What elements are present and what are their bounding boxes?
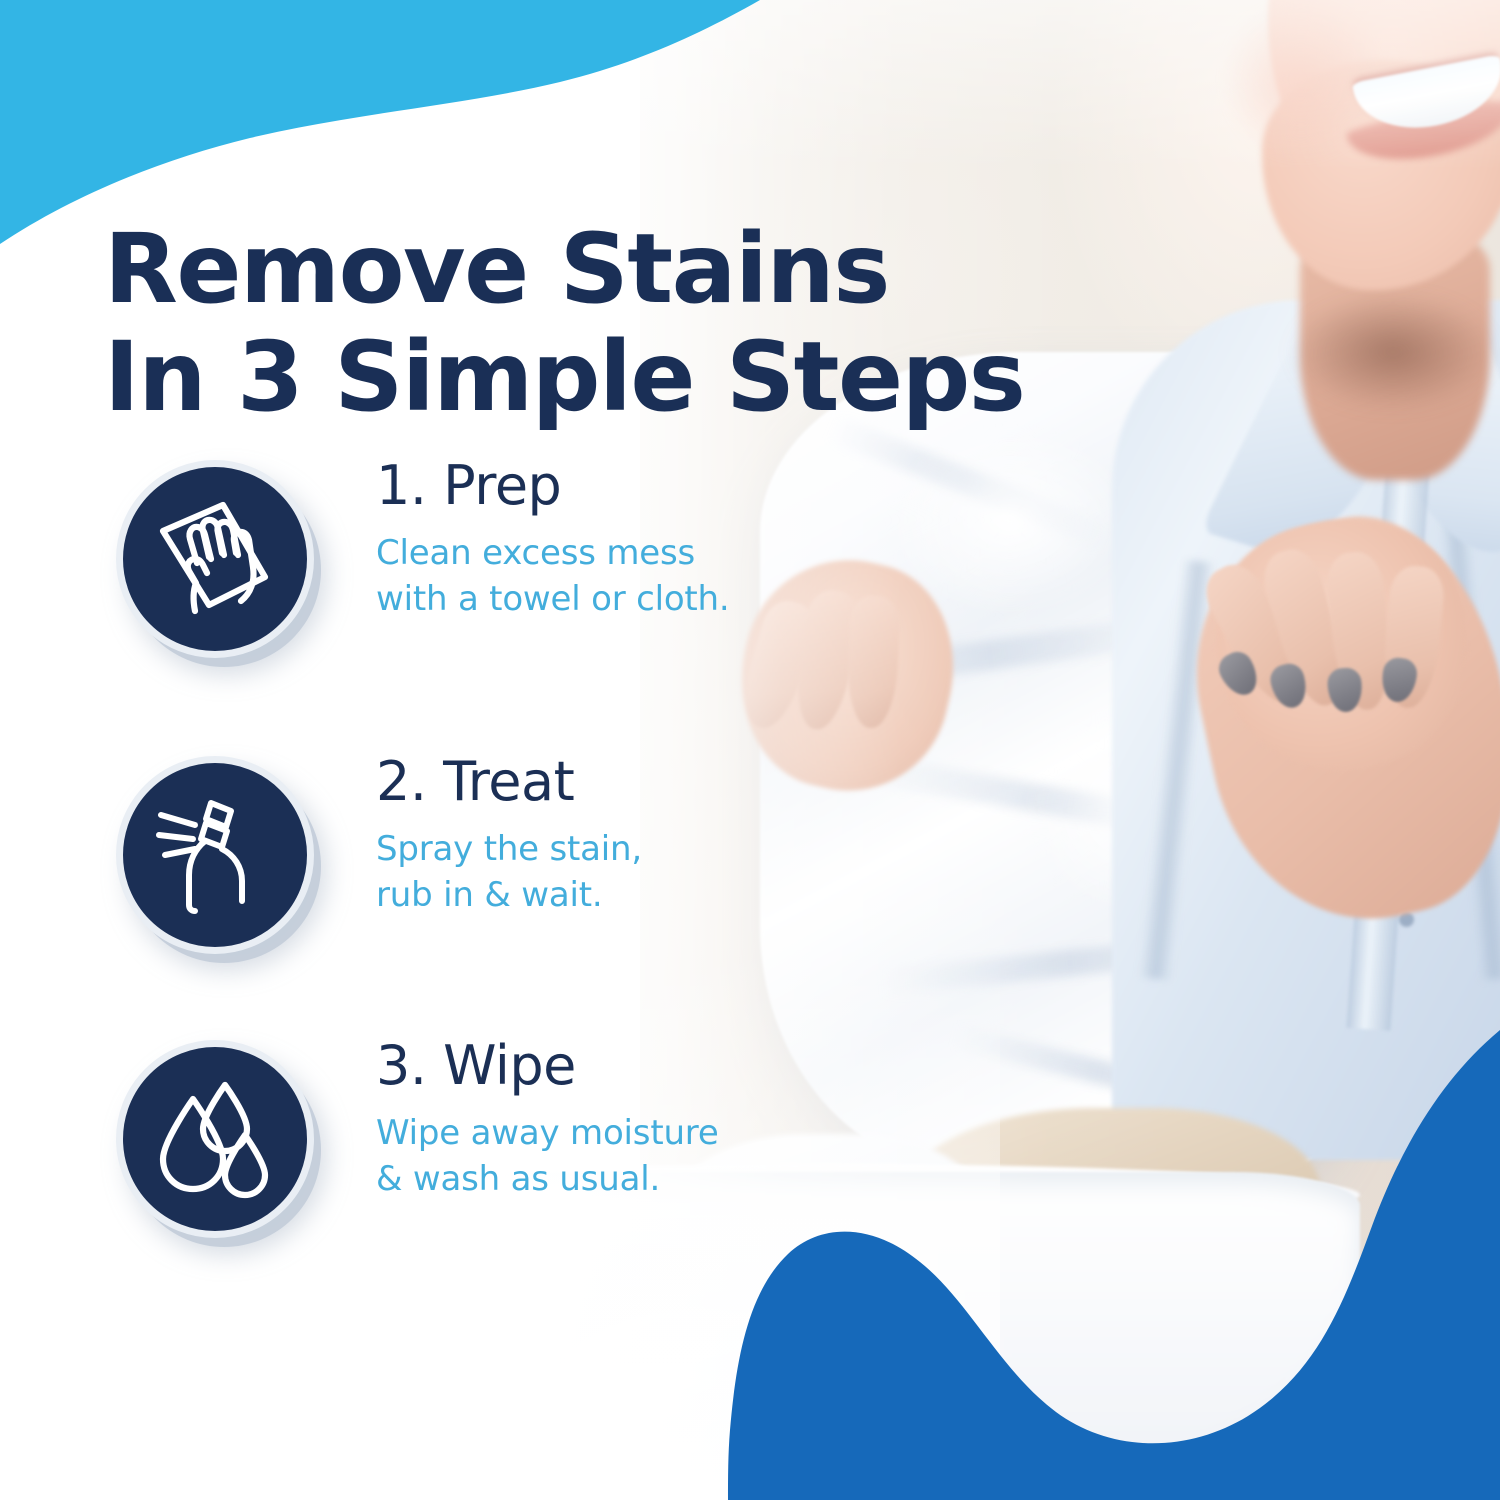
- step-description: Spray the stain, rub in & wait.: [376, 827, 816, 918]
- step-text-treat: 2. Treat Spray the stain, rub in & wait.: [376, 752, 816, 918]
- step-title: 2. Treat: [376, 752, 816, 811]
- step-desc-line-1: Wipe away moisture: [376, 1111, 816, 1157]
- step-item-treat: 2. Treat Spray the stain, rub in & wait.: [108, 748, 828, 978]
- steps-list: 1. Prep Clean excess mess with a towel o…: [0, 0, 1500, 1500]
- step-desc-line-2: rub in & wait.: [376, 873, 816, 919]
- infographic-canvas: Remove Stains In 3 Simple Steps 1. Prep …: [0, 0, 1500, 1500]
- water-droplets-icon: [116, 1040, 314, 1238]
- step-description: Clean excess mess with a towel or cloth.: [376, 531, 816, 622]
- step-item-wipe: 3. Wipe Wipe away moisture & wash as usu…: [108, 1032, 828, 1262]
- step-desc-line-2: & wash as usual.: [376, 1157, 816, 1203]
- step-text-wipe: 3. Wipe Wipe away moisture & wash as usu…: [376, 1036, 816, 1202]
- hand-wiping-cloth-icon: [116, 460, 314, 658]
- step-item-prep: 1. Prep Clean excess mess with a towel o…: [108, 452, 828, 682]
- step-desc-line-1: Clean excess mess: [376, 531, 816, 577]
- step-text-prep: 1. Prep Clean excess mess with a towel o…: [376, 456, 816, 622]
- step-desc-line-2: with a towel or cloth.: [376, 577, 816, 623]
- spray-bottle-icon: [116, 756, 314, 954]
- step-description: Wipe away moisture & wash as usual.: [376, 1111, 816, 1202]
- step-desc-line-1: Spray the stain,: [376, 827, 816, 873]
- step-title: 3. Wipe: [376, 1036, 816, 1095]
- step-title: 1. Prep: [376, 456, 816, 515]
